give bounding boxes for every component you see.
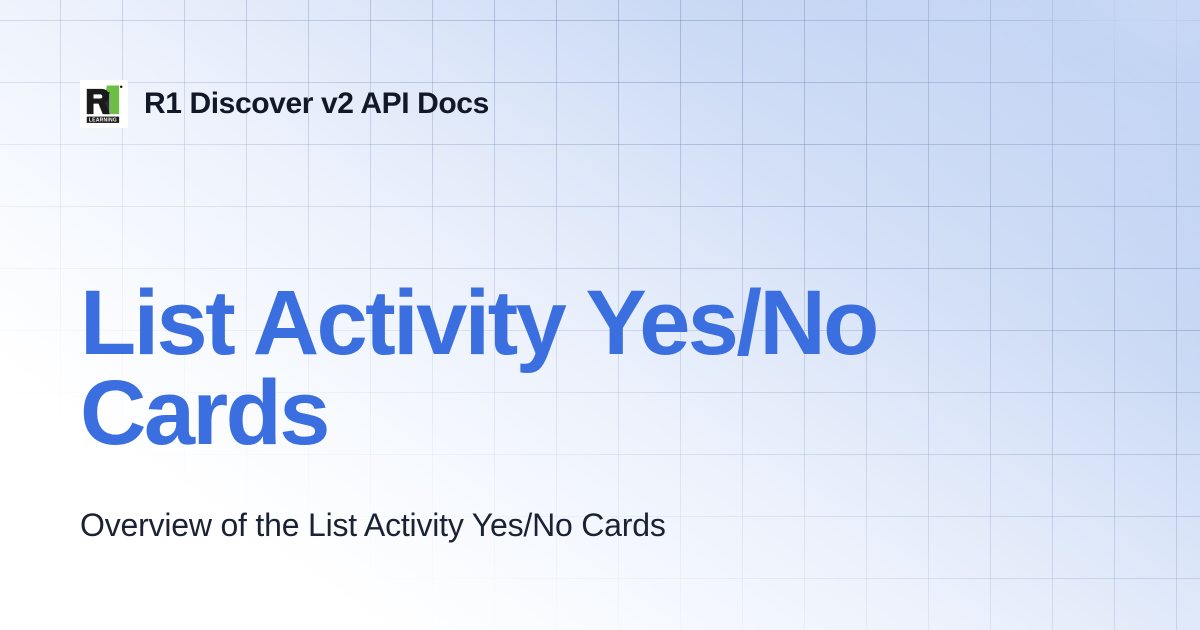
brand-header: LEARNING R1 Discover v2 API Docs [80,80,489,128]
og-card-canvas: LEARNING R1 Discover v2 API Docs List Ac… [0,0,1200,630]
page-title: List Activity Yes/No Cards [80,278,1010,458]
card-content: LEARNING R1 Discover v2 API Docs List Ac… [0,0,1200,630]
brand-title: R1 Discover v2 API Docs [144,89,489,119]
page-subtitle: Overview of the List Activity Yes/No Car… [80,505,1040,545]
svg-text:LEARNING: LEARNING [89,117,117,123]
r1-learning-logo-icon: LEARNING [80,80,128,128]
